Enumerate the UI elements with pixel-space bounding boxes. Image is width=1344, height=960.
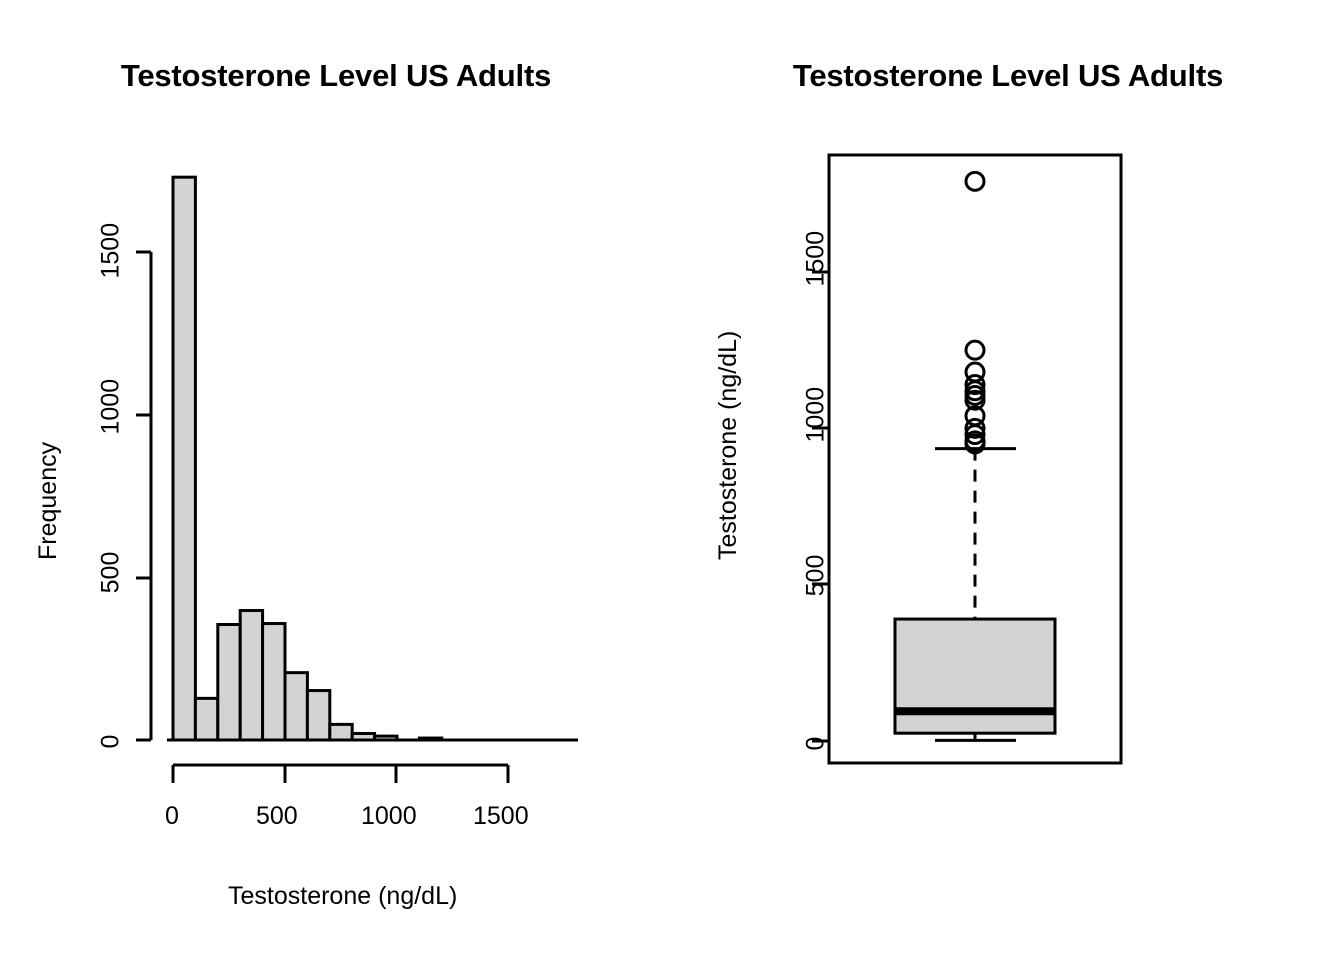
histogram-bar [352, 733, 374, 740]
boxplot-outlier-point [966, 172, 984, 190]
histogram-bar [218, 625, 240, 740]
histogram-y-axis [136, 252, 151, 740]
histogram-bar [330, 724, 352, 740]
boxplot-svg [672, 0, 1344, 960]
boxplot-outlier-point [966, 341, 984, 359]
histogram-bar [375, 736, 397, 740]
histogram-bar [263, 624, 285, 740]
histogram-bar [285, 673, 307, 740]
boxplot-panel: Testosterone Level US Adults Testosteron… [672, 0, 1344, 960]
histogram-bar [240, 611, 262, 740]
boxplot-graphic [672, 0, 1344, 960]
histogram-bars [173, 177, 442, 740]
boxplot-elements [895, 172, 1055, 740]
histogram-panel: Testosterone Level US Adults Frequency T… [0, 0, 672, 960]
histogram-bar [307, 691, 329, 740]
histogram-bar [173, 177, 195, 740]
histogram-bar [419, 738, 441, 740]
histogram-svg [0, 0, 672, 960]
boxplot-iqr-box [895, 619, 1055, 733]
histogram-x-axis [173, 765, 508, 783]
figure-canvas: Testosterone Level US Adults Frequency T… [0, 0, 1344, 960]
boxplot-y-axis [812, 272, 829, 741]
histogram-bar [195, 698, 217, 740]
histogram-graphic [0, 0, 672, 960]
